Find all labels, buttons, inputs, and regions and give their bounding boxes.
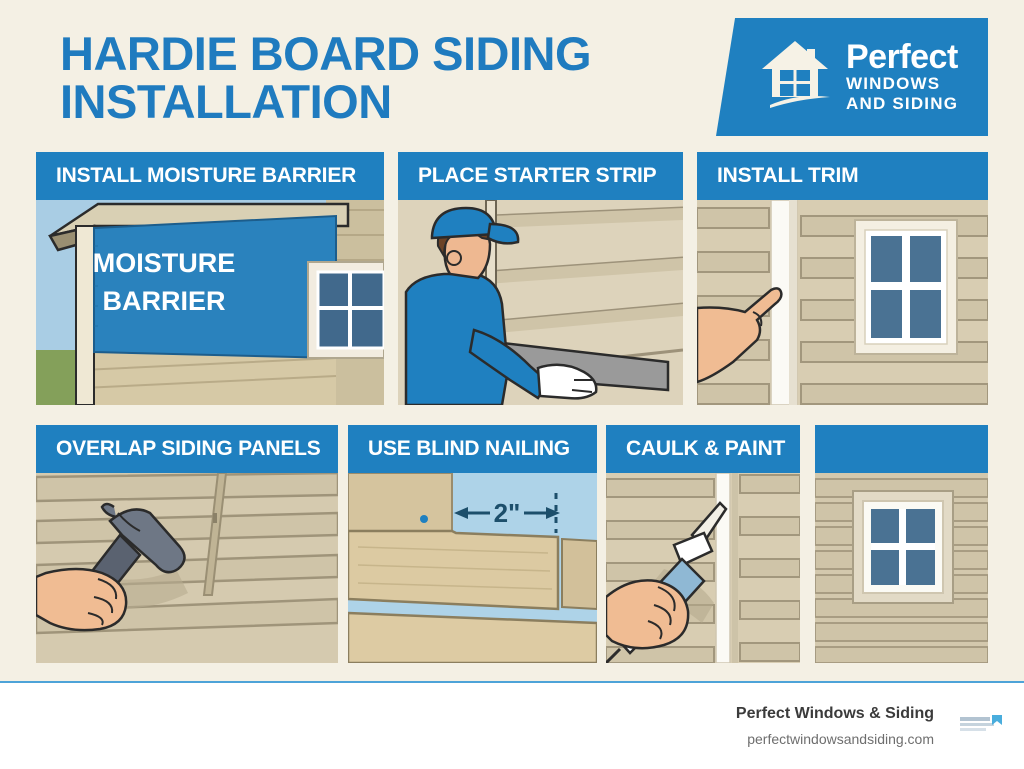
step-panel-use-blind-nailing: USE BLIND NAILING [348, 425, 597, 663]
step-illustration-4 [36, 473, 338, 663]
step-header-6: CAULK & PAINT [606, 425, 800, 473]
page-title: HARDIE BOARD SIDING INSTALLATION [60, 30, 700, 126]
step-illustration-1: MOISTURE BARRIER [36, 200, 384, 405]
overlay-text-barrier: BARRIER [102, 286, 225, 316]
step-header-1: INSTALL MOISTURE BARRIER [36, 152, 384, 200]
overlay-text-measurement: 2" [494, 498, 521, 528]
step-panel-install-trim: INSTALL TRIM [697, 152, 988, 405]
page-title-line-1: HARDIE BOARD SIDING [60, 30, 700, 78]
step-illustration-7 [815, 473, 988, 663]
step-illustration-3 [697, 200, 988, 405]
footer-logo-badge [958, 711, 1006, 737]
step-illustration-2 [398, 200, 683, 405]
overlay-text-moisture: MOISTURE [93, 248, 236, 278]
page-footer: Perfect Windows & Siding perfectwindowsa… [0, 683, 1024, 769]
brand-name-main: Perfect [846, 40, 958, 74]
step-panel-place-starter-strip: PLACE STARTER STRIP [398, 152, 683, 405]
step-panel-overlap-siding-panels: OVERLAP SIDING PANELS [36, 425, 338, 663]
step-header-2: PLACE STARTER STRIP [398, 152, 683, 200]
footer-company-name: Perfect Windows & Siding [736, 705, 934, 723]
step-panel-caulk-and-paint: CAULK & PAINT [606, 425, 800, 663]
step-header-3: INSTALL TRIM [697, 152, 988, 200]
page-title-line-2: INSTALLATION [60, 78, 700, 126]
step-header-7 [815, 425, 988, 473]
brand-name-sub1: WINDOWS [846, 74, 958, 94]
brand-name-sub2: AND SIDING [846, 94, 958, 114]
footer-website-url[interactable]: perfectwindowsandsiding.com [747, 731, 934, 747]
step-panel-finished-siding [815, 425, 988, 663]
brand-logo: Perfect WINDOWS AND SIDING [716, 18, 988, 136]
step-illustration-6 [606, 473, 800, 663]
step-header-5: USE BLIND NAILING [348, 425, 597, 473]
step-illustration-5: 2" [348, 473, 597, 663]
nail-dot [420, 515, 428, 523]
step-panel-install-moisture-barrier: INSTALL MOISTURE BARRIER [36, 152, 384, 405]
brand-logo-text: Perfect WINDOWS AND SIDING [846, 40, 958, 114]
poster-canvas: HARDIE BOARD SIDING INSTALLATION Perfect… [0, 0, 1024, 683]
house-icon [758, 37, 832, 114]
step-header-4: OVERLAP SIDING PANELS [36, 425, 338, 473]
